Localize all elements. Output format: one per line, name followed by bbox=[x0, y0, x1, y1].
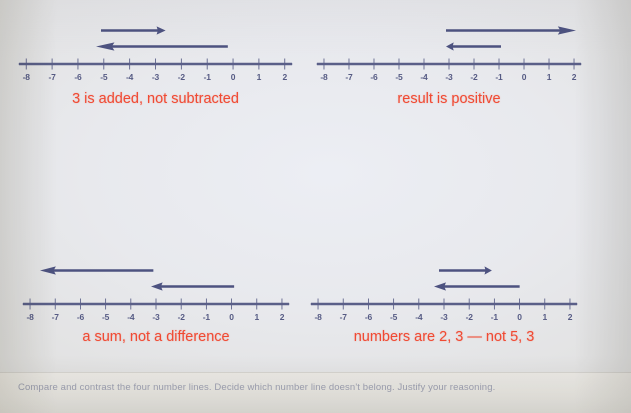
tick-label-neg3: -3 bbox=[445, 72, 452, 82]
tick-label-2: 2 bbox=[572, 72, 577, 82]
arrow-left-upper bbox=[40, 266, 153, 275]
number-line-panel-bottom-right: -8-7-6-5-4-3-2-1012 numbers are 2, 3 — n… bbox=[310, 256, 578, 326]
tick-label-neg6: -6 bbox=[74, 72, 81, 82]
tick-label-neg5: -5 bbox=[395, 72, 402, 82]
arrow-layer bbox=[310, 256, 578, 296]
tick-label-neg8: -8 bbox=[314, 312, 321, 322]
tick-label-1: 1 bbox=[543, 312, 548, 322]
tick-label-neg2: -2 bbox=[178, 312, 185, 322]
number-line-panel-bottom-left: -8-7-6-5-4-3-2-1012 a sum, not a differe… bbox=[22, 256, 290, 326]
tick-label-1: 1 bbox=[257, 72, 262, 82]
tick-label-neg3: -3 bbox=[440, 312, 447, 322]
tick-label-0: 0 bbox=[517, 312, 522, 322]
arrow-left-lower bbox=[151, 282, 234, 291]
tick-label-neg7: -7 bbox=[52, 312, 59, 322]
tick-label-neg1: -1 bbox=[495, 72, 502, 82]
number-line-group: -8-7-6-5-4-3-2-1012 bbox=[22, 256, 290, 326]
tick-label-neg8: -8 bbox=[320, 72, 327, 82]
slide-canvas: -8-7-6-5-4-3-2-1012 3 is added, not subt… bbox=[0, 0, 631, 413]
tick-label-neg3: -3 bbox=[152, 72, 159, 82]
arrow-layer bbox=[18, 18, 293, 56]
arrow-right-upper bbox=[101, 26, 166, 35]
number-line-axis bbox=[22, 296, 290, 312]
number-line-group: -8-7-6-5-4-3-2-1012 bbox=[18, 18, 293, 86]
arrow-left-lower bbox=[96, 42, 228, 51]
tick-label-2: 2 bbox=[568, 312, 573, 322]
tick-label-neg6: -6 bbox=[365, 312, 372, 322]
number-line-group: -8-7-6-5-4-3-2-1012 bbox=[316, 10, 582, 86]
tick-label-2: 2 bbox=[280, 312, 285, 322]
number-line-axis bbox=[316, 56, 582, 72]
tick-label-neg1: -1 bbox=[203, 312, 210, 322]
number-line-group: -8-7-6-5-4-3-2-1012 bbox=[310, 256, 578, 326]
number-line-axis bbox=[310, 296, 578, 312]
tick-label-neg7: -7 bbox=[340, 312, 347, 322]
footer-bar: Compare and contrast the four number lin… bbox=[0, 372, 631, 413]
tick-label-neg3: -3 bbox=[152, 312, 159, 322]
tick-label-neg4: -4 bbox=[415, 312, 422, 322]
tick-label-neg2: -2 bbox=[470, 72, 477, 82]
arrow-left-lower bbox=[446, 42, 501, 51]
number-line-panel-top-right: -8-7-6-5-4-3-2-1012 result is positive bbox=[316, 10, 582, 86]
tick-label-0: 0 bbox=[522, 72, 527, 82]
tick-label-neg7: -7 bbox=[345, 72, 352, 82]
footer-instruction-text: Compare and contrast the four number lin… bbox=[18, 382, 495, 393]
tick-label-row: -8-7-6-5-4-3-2-1012 bbox=[22, 312, 290, 326]
tick-label-neg4: -4 bbox=[420, 72, 427, 82]
tick-label-neg5: -5 bbox=[100, 72, 107, 82]
tick-label-neg4: -4 bbox=[127, 312, 134, 322]
tick-label-neg5: -5 bbox=[390, 312, 397, 322]
arrow-layer bbox=[22, 256, 290, 296]
arrow-right-upper bbox=[439, 266, 492, 275]
tick-label-neg7: -7 bbox=[49, 72, 56, 82]
tick-label-2: 2 bbox=[282, 72, 287, 82]
tick-label-neg8: -8 bbox=[23, 72, 30, 82]
tick-label-row: -8-7-6-5-4-3-2-1012 bbox=[310, 312, 578, 326]
tick-label-neg1: -1 bbox=[491, 312, 498, 322]
tick-label-neg6: -6 bbox=[370, 72, 377, 82]
tick-label-row: -8-7-6-5-4-3-2-1012 bbox=[316, 72, 582, 86]
tick-label-neg2: -2 bbox=[178, 72, 185, 82]
tick-label-neg8: -8 bbox=[26, 312, 33, 322]
panel-caption-top-left: 3 is added, not subtracted bbox=[18, 91, 293, 107]
tick-label-neg4: -4 bbox=[126, 72, 133, 82]
arrow-left-lower bbox=[434, 282, 520, 291]
tick-label-row: -8-7-6-5-4-3-2-1012 bbox=[18, 72, 293, 86]
tick-label-neg6: -6 bbox=[77, 312, 84, 322]
tick-label-neg5: -5 bbox=[102, 312, 109, 322]
tick-label-neg1: -1 bbox=[204, 72, 211, 82]
number-line-panel-top-left: -8-7-6-5-4-3-2-1012 3 is added, not subt… bbox=[18, 18, 293, 86]
tick-label-0: 0 bbox=[229, 312, 234, 322]
arrow-layer bbox=[316, 10, 582, 56]
panel-caption-bottom-right: numbers are 2, 3 — not 5, 3 bbox=[310, 329, 578, 345]
tick-label-1: 1 bbox=[255, 312, 260, 322]
tick-label-neg2: -2 bbox=[466, 312, 473, 322]
panel-caption-top-right: result is positive bbox=[316, 91, 582, 107]
tick-label-1: 1 bbox=[547, 72, 552, 82]
panel-caption-bottom-left: a sum, not a difference bbox=[22, 329, 290, 345]
tick-label-0: 0 bbox=[231, 72, 236, 82]
number-line-axis bbox=[18, 56, 293, 72]
arrow-right-upper bbox=[446, 26, 576, 35]
